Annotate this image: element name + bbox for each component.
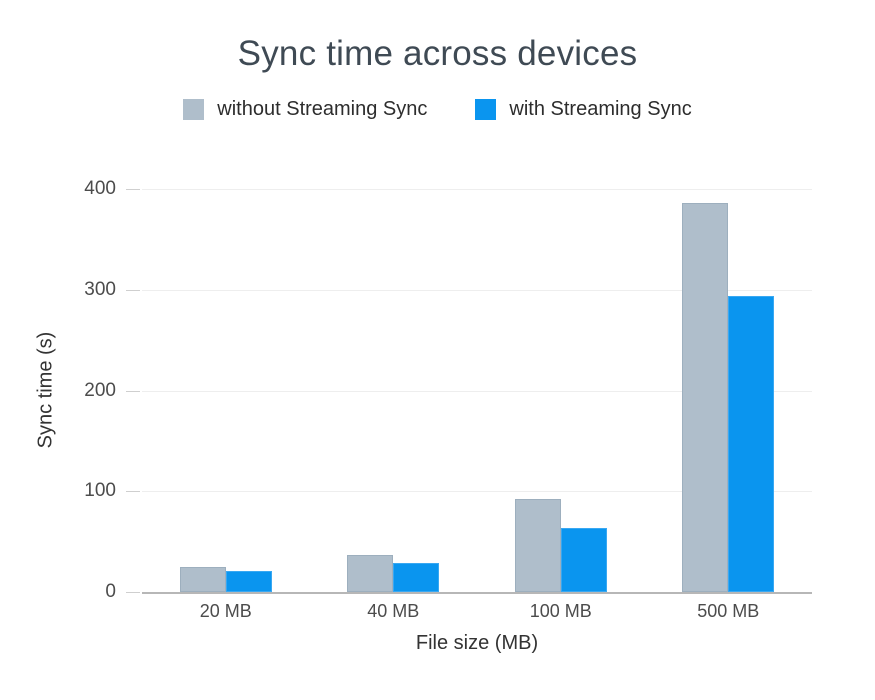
legend-label-series-0: without Streaming Sync xyxy=(217,98,427,121)
y-tick-label: 300 xyxy=(0,279,116,301)
legend-entry-with-streaming-sync[interactable]: with Streaming Sync xyxy=(475,98,691,121)
x-tick-label: 100 MB xyxy=(530,601,592,622)
bar-20-mb-series-0[interactable] xyxy=(180,567,226,592)
y-tick-mark xyxy=(126,592,140,593)
legend-entry-without-streaming-sync[interactable]: without Streaming Sync xyxy=(183,98,427,121)
bar-500-mb-series-0[interactable] xyxy=(682,203,728,592)
y-tick-mark xyxy=(126,189,140,190)
x-tick-label: 40 MB xyxy=(367,601,419,622)
y-tick-label: 0 xyxy=(0,581,116,603)
chart-title: Sync time across devices xyxy=(0,34,875,74)
legend-swatch-series-0 xyxy=(183,99,204,120)
y-tick-mark xyxy=(126,290,140,291)
bar-40-mb-series-1[interactable] xyxy=(393,563,439,592)
y-tick-mark xyxy=(126,491,140,492)
bar-100-mb-series-1[interactable] xyxy=(561,528,607,592)
gridline xyxy=(142,189,812,190)
x-tick-label: 500 MB xyxy=(697,601,759,622)
bar-40-mb-series-0[interactable] xyxy=(347,555,393,592)
bar-100-mb-series-0[interactable] xyxy=(515,499,561,592)
legend-label-series-1: with Streaming Sync xyxy=(509,98,691,121)
y-tick-label: 100 xyxy=(0,480,116,502)
plot-area xyxy=(142,189,812,592)
y-tick-mark xyxy=(126,391,140,392)
bar-500-mb-series-1[interactable] xyxy=(728,296,774,592)
bar-20-mb-series-1[interactable] xyxy=(226,571,272,592)
bar-chart: Sync time across devices without Streami… xyxy=(0,0,875,700)
legend-swatch-series-1 xyxy=(475,99,496,120)
x-axis-label: File size (MB) xyxy=(142,632,812,655)
x-tick-label: 20 MB xyxy=(200,601,252,622)
y-tick-label: 200 xyxy=(0,380,116,402)
chart-legend: without Streaming Sync with Streaming Sy… xyxy=(0,98,875,121)
x-axis-baseline xyxy=(142,592,812,594)
y-tick-label: 400 xyxy=(0,178,116,200)
